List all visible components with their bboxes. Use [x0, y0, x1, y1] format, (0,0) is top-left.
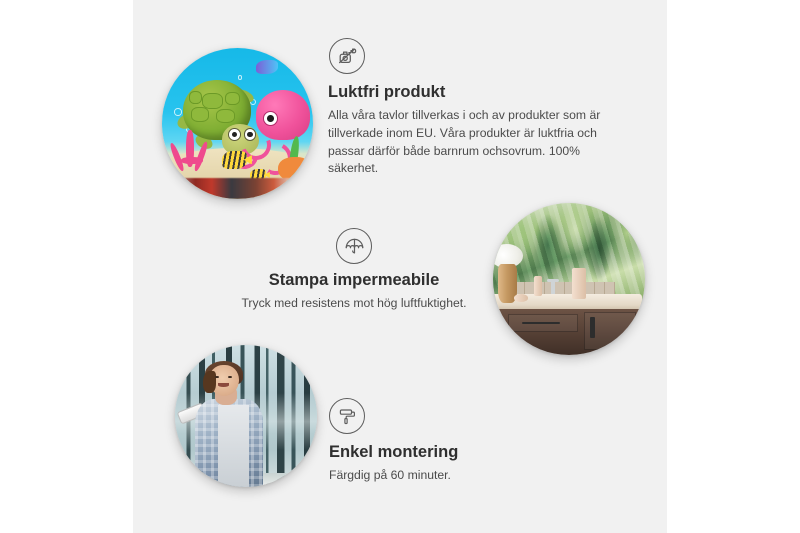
feature-description: Färgdig på 60 minuter. [329, 467, 579, 485]
soap-dish [514, 294, 528, 302]
coral-arm [168, 142, 185, 172]
feature-title: Stampa impermeabile [199, 270, 509, 291]
turtle-scute [202, 93, 222, 109]
umbrella-icon [336, 228, 372, 264]
fish-yellow [222, 151, 246, 169]
coral-arm [193, 141, 209, 172]
door-handle [590, 317, 596, 338]
bubble-icon [174, 108, 182, 116]
vanity-cabinet [499, 309, 645, 355]
content-panel: Luktfri produkt Alla våra tavlor tillver… [133, 0, 667, 533]
ocean-foreground-strip [162, 178, 313, 199]
product-image-bathroom[interactable] [493, 203, 645, 355]
turtle-scute [225, 92, 240, 105]
feature-odourless: Luktfri produkt Alla våra tavlor tillver… [328, 38, 623, 178]
feature-waterproof: Stampa impermeabile Tryck med resistens … [199, 228, 509, 313]
forest-photo [175, 345, 317, 487]
toiletry-bottle [534, 276, 542, 296]
feature-title: Enkel montering [329, 442, 579, 463]
drawer-handle [522, 322, 560, 324]
bubble-icon [238, 75, 243, 80]
feature-description: Alla våra tavlor tillverkas i och av pro… [328, 107, 623, 179]
turtle-scute [216, 109, 235, 123]
feature-title: Luktfri produkt [328, 82, 623, 103]
coral [171, 130, 216, 181]
feature-mounting: Enkel montering Färgdig på 60 minuter. [329, 398, 579, 485]
fish-blue [256, 60, 279, 74]
paint-roller-icon [329, 398, 365, 434]
woman-eye [228, 376, 233, 379]
woman-hair-side [203, 371, 216, 394]
product-image-ocean[interactable] [162, 48, 313, 199]
soap-dispenser [572, 268, 586, 298]
turtle-scute [189, 91, 203, 104]
no-fragrance-icon [329, 38, 365, 74]
octopus-eye [263, 111, 278, 126]
woman-smile [218, 383, 229, 387]
feature-description: Tryck med resistens mot hög luftfuktighe… [199, 295, 509, 313]
turtle-scute [191, 107, 209, 121]
ocean-illustration [162, 48, 313, 199]
product-image-forest[interactable] [175, 345, 317, 487]
woman-shirt-front [218, 405, 249, 487]
octopus-head [256, 90, 310, 140]
bathroom-photo [493, 203, 645, 355]
screenshot-stage: Luktfri produkt Alla våra tavlor tillver… [0, 0, 800, 533]
